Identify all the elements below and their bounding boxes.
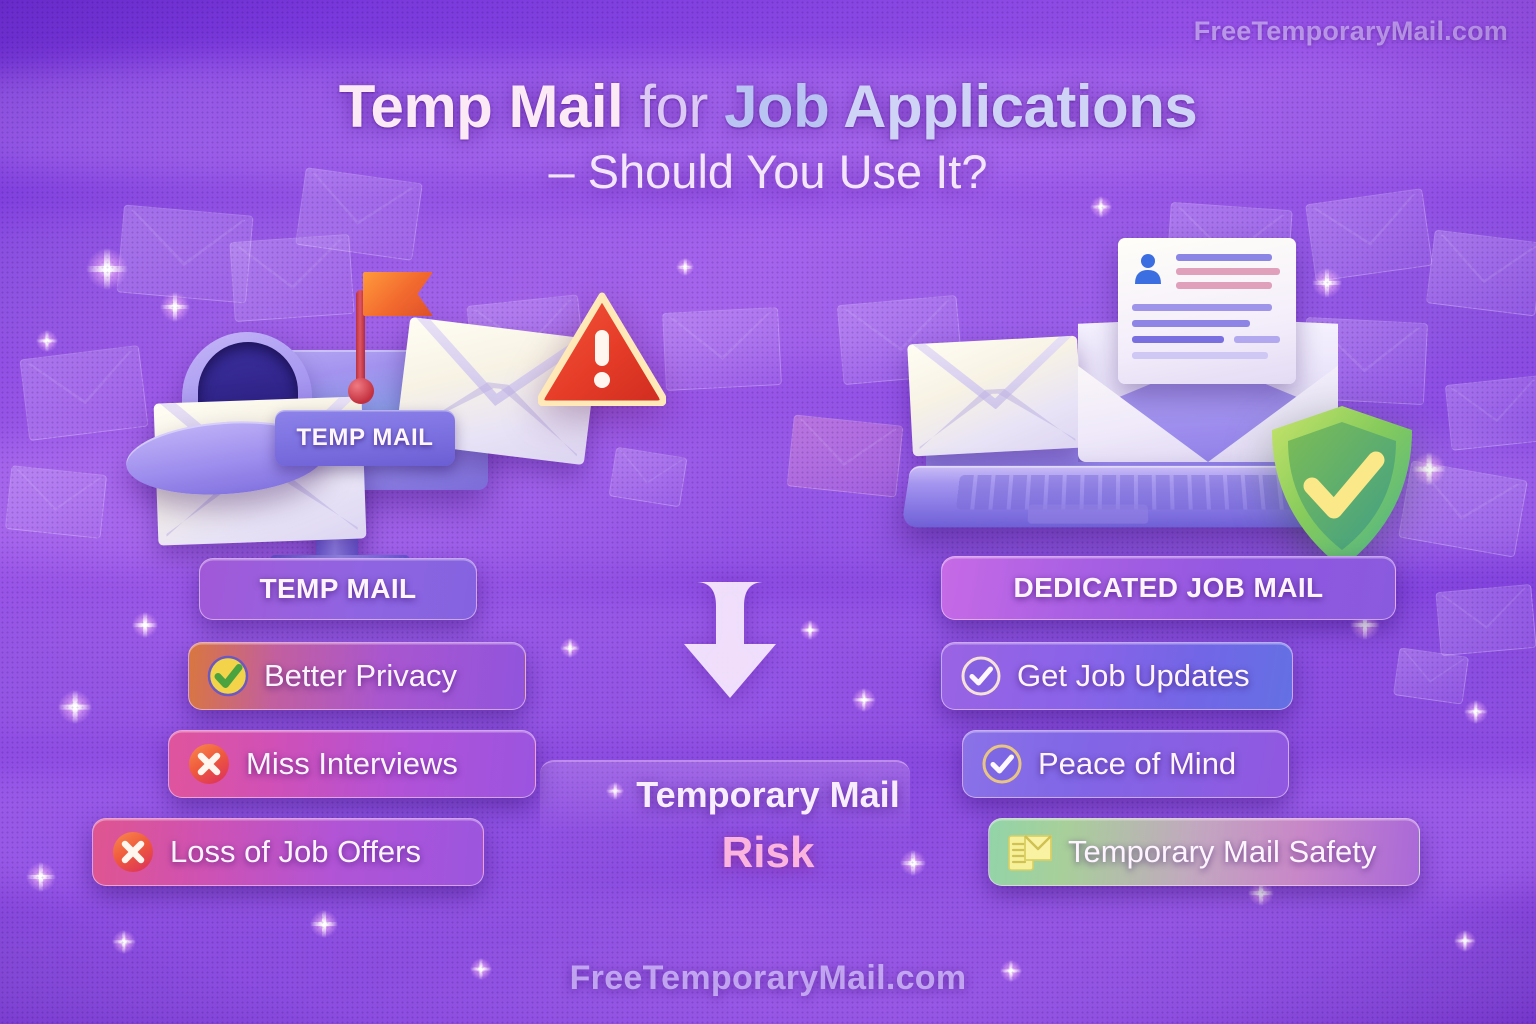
mailbox-name-plate: TEMP MAIL (275, 410, 455, 466)
badge-label: Peace of Mind (1038, 746, 1236, 782)
badge-peace-of-mind[interactable]: Peace of Mind (962, 730, 1289, 798)
badge-loss-of-job-offers[interactable]: Loss of Job Offers (92, 818, 484, 886)
title-part-applications: Applications (829, 73, 1197, 140)
envelope-icon (907, 336, 1083, 457)
watermark-top: FreeTemporaryMail.com (1194, 16, 1508, 47)
mailbox-flag-knob (348, 378, 374, 404)
right-column-header-label: DEDICATED JOB MAIL (1013, 572, 1323, 604)
laptop-illustration (900, 236, 1440, 566)
x-circle-red-icon (187, 742, 231, 786)
badge-get-job-updates[interactable]: Get Job Updates (941, 642, 1293, 710)
title-block: Temp Mail for Job Applications – Should … (0, 76, 1536, 199)
badge-label: Get Job Updates (1017, 658, 1250, 694)
title-part-for: for (623, 73, 724, 140)
mailbox-plate-label: TEMP MAIL (297, 424, 434, 452)
document-envelope-icon (1007, 830, 1053, 874)
badge-better-privacy[interactable]: Better Privacy (188, 642, 526, 710)
badge-miss-interviews[interactable]: Miss Interviews (168, 730, 536, 798)
laptop-trackpad (1028, 504, 1149, 523)
page-title: Temp Mail for Job Applications (0, 76, 1536, 138)
merge-down-arrow-icon (520, 560, 940, 710)
watermark-bottom: FreeTemporaryMail.com (0, 959, 1536, 998)
badge-label: Better Privacy (264, 658, 457, 694)
person-avatar-icon (1132, 252, 1164, 284)
resume-document-icon (1118, 238, 1296, 384)
mailbox-illustration: TEMP MAIL (120, 250, 660, 580)
badge-label: Miss Interviews (246, 746, 458, 782)
check-circle-gold-icon (981, 743, 1023, 785)
shield-check-icon (1268, 404, 1416, 570)
title-part-job: Job (724, 73, 829, 140)
right-column-header-badge[interactable]: DEDICATED JOB MAIL (941, 556, 1396, 620)
mailbox-flag-icon (363, 272, 433, 316)
page-subtitle: – Should You Use It? (0, 144, 1536, 199)
title-part-temp-mail: Temp Mail (339, 73, 623, 140)
left-column-header-badge[interactable]: TEMP MAIL (199, 558, 477, 620)
check-circle-green-icon (207, 655, 249, 697)
left-column-header-label: TEMP MAIL (259, 573, 416, 605)
check-circle-outline-icon (960, 655, 1002, 697)
badge-label: Temporary Mail Safety (1068, 834, 1376, 870)
x-circle-red-icon (111, 830, 155, 874)
warning-triangle-icon (538, 292, 666, 406)
badge-label: Loss of Job Offers (170, 834, 421, 870)
infographic-canvas: FreeTemporaryMail.com Temp Mail for Job … (0, 0, 1536, 1024)
badge-temporary-mail-safety[interactable]: Temporary Mail Safety (988, 818, 1420, 886)
